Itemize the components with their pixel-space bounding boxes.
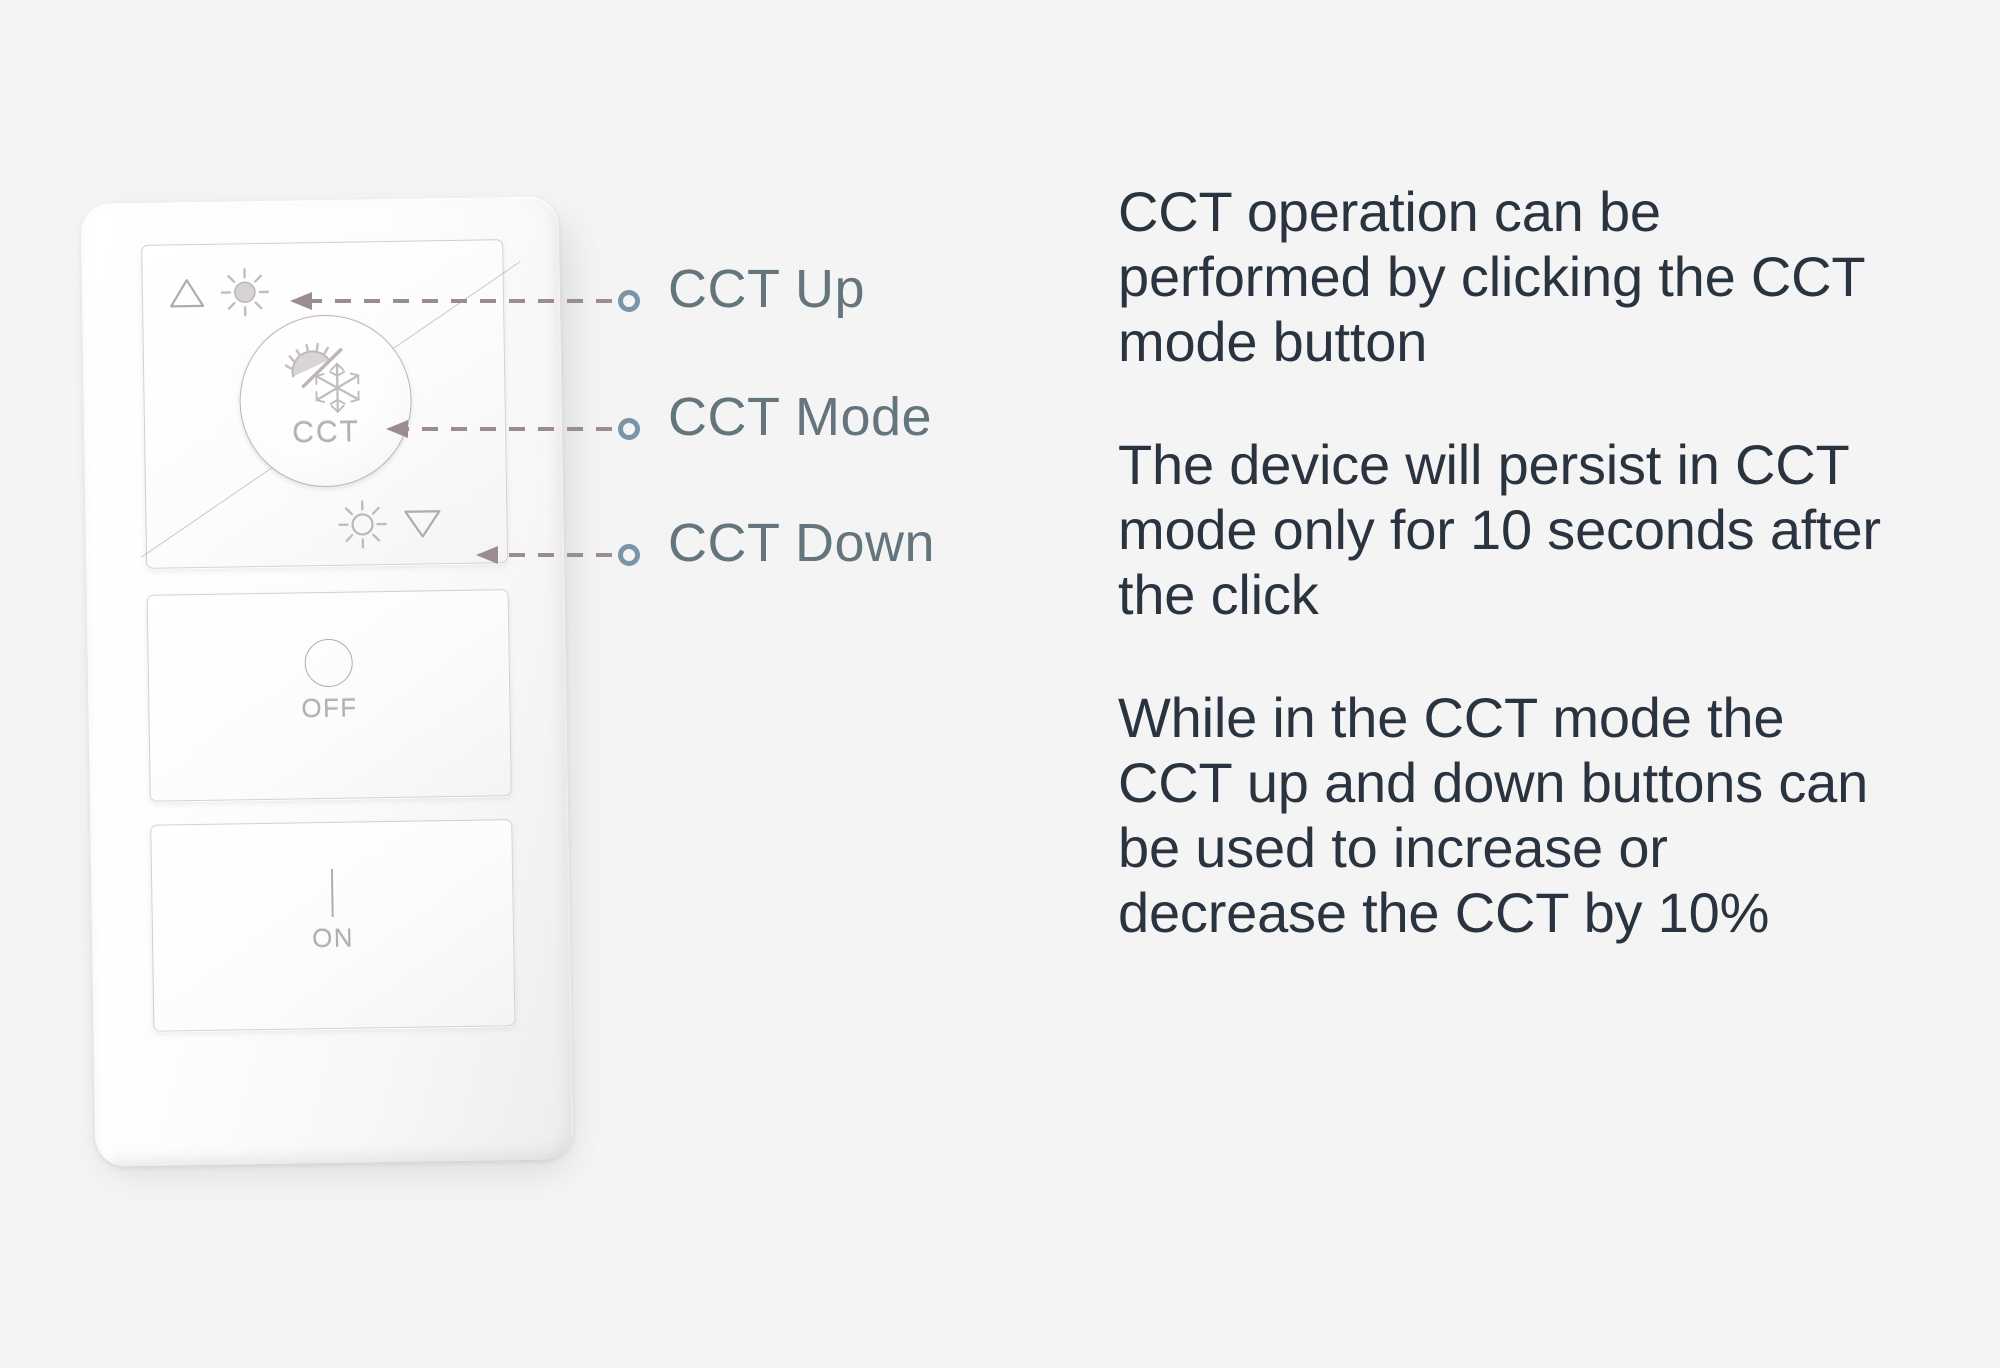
- sun-outline-icon: [336, 498, 389, 556]
- callout-label-cct-up: CCT Up: [668, 258, 865, 320]
- device-edge-highlight: [80, 203, 121, 1166]
- wall-switch-device: CCT: [88, 200, 578, 1190]
- callout-marker-cct-mode[interactable]: [618, 418, 640, 440]
- triangle-down-icon: [400, 504, 445, 548]
- off-label: OFF: [301, 693, 358, 725]
- sun-snowflake-icon: [279, 339, 372, 427]
- cct-down-icon-group[interactable]: [336, 497, 445, 556]
- callout-label-cct-down: CCT Down: [668, 512, 935, 574]
- on-button[interactable]: ON: [150, 819, 515, 1032]
- off-glyph-group: OFF: [148, 636, 509, 727]
- cct-mode-button[interactable]: CCT: [238, 314, 413, 489]
- diagram-canvas: CCT: [0, 0, 2000, 1368]
- callout-marker-cct-up[interactable]: [618, 290, 640, 312]
- off-button[interactable]: OFF: [147, 589, 512, 802]
- cct-knob-label: CCT: [241, 415, 412, 452]
- description-paragraph-2: The device will persist in CCT mode only…: [1118, 433, 1908, 628]
- triangle-up-icon: [167, 275, 208, 317]
- device-body: CCT: [80, 196, 573, 1166]
- device-faceplate: CCT: [80, 196, 573, 1166]
- description-paragraph-1: CCT operation can be performed by clicki…: [1118, 180, 1908, 375]
- sun-filled-icon: [218, 266, 271, 324]
- callout-label-cct-mode: CCT Mode: [668, 386, 932, 448]
- on-label: ON: [312, 923, 354, 955]
- on-glyph-group: ON: [152, 866, 513, 957]
- cct-rocker-panel[interactable]: CCT: [141, 239, 508, 569]
- vertical-bar-icon: [331, 869, 334, 917]
- circle-icon: [304, 639, 353, 688]
- description-column: CCT operation can be performed by clicki…: [1118, 180, 1908, 946]
- description-paragraph-3: While in the CCT mode the CCT up and dow…: [1118, 686, 1908, 946]
- callout-marker-cct-down[interactable]: [618, 544, 640, 566]
- cct-up-icon-group[interactable]: [166, 266, 271, 325]
